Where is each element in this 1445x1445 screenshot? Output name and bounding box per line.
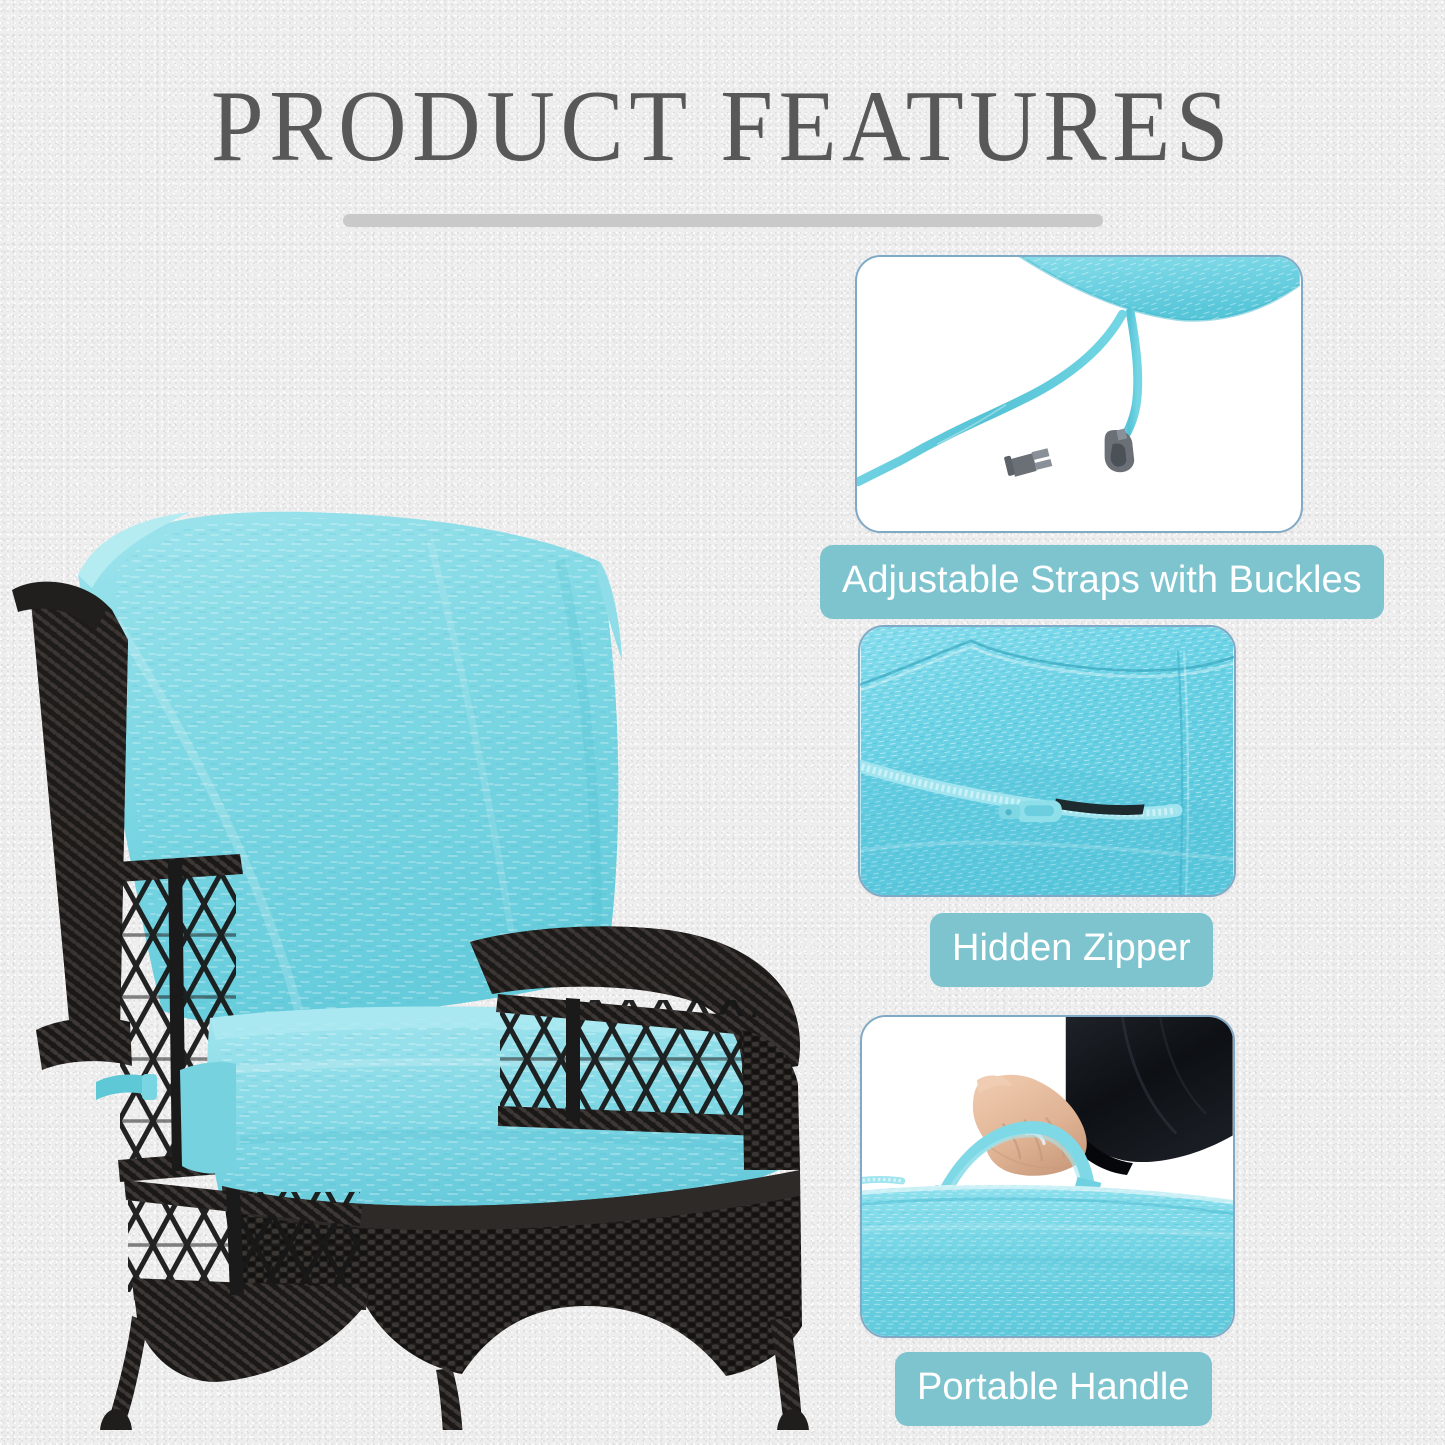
feature-image-portable-handle	[860, 1015, 1235, 1338]
product-photo-chair	[0, 470, 840, 1430]
chair-back-frame	[12, 582, 128, 1030]
feature-label-row: Hidden Zipper	[820, 913, 1445, 987]
feature-item-hidden-zipper: Hidden Zipper	[820, 625, 1445, 987]
feature-label-row: Portable Handle	[820, 1352, 1445, 1426]
feature-list: Adjustable Straps with Buckles	[820, 255, 1445, 1435]
page-title: PRODUCT FEATURES	[51, 76, 1395, 178]
feature-item-portable-handle: Portable Handle	[820, 1015, 1445, 1426]
feature-label-hidden-zipper: Hidden Zipper	[930, 913, 1213, 987]
title-divider	[343, 214, 1103, 227]
feature-label-adjustable-straps: Adjustable Straps with Buckles	[820, 545, 1384, 619]
feature-item-adjustable-straps: Adjustable Straps with Buckles	[820, 255, 1445, 619]
feature-label-row: Adjustable Straps with Buckles	[820, 545, 1445, 619]
feature-label-portable-handle: Portable Handle	[895, 1352, 1212, 1426]
title-block: PRODUCT FEATURES	[0, 76, 1445, 227]
chair-left-arm	[36, 1018, 132, 1070]
feature-image-hidden-zipper	[858, 625, 1236, 897]
chair-lower-left-lattice	[124, 1180, 368, 1382]
feature-image-adjustable-straps	[855, 255, 1303, 533]
